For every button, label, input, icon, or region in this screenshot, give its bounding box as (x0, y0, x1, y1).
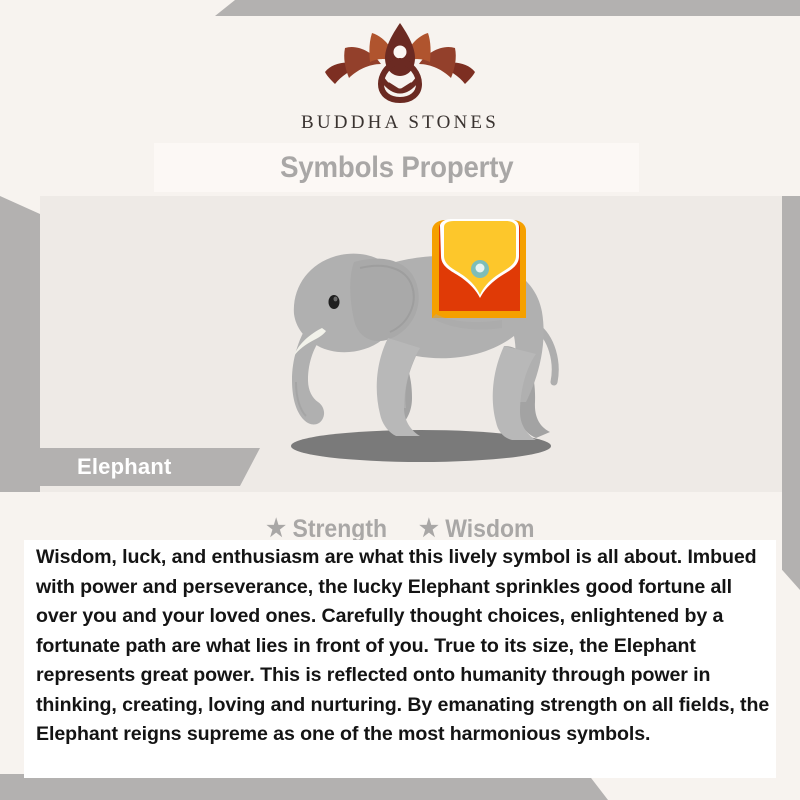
title-banner: Symbols Property (154, 143, 639, 192)
symbol-name-label: Elephant (77, 454, 172, 480)
infographic-page: BUDDHA STONES Symbols Property (0, 0, 800, 800)
lotus-meditation-figure-icon (315, 18, 485, 110)
elephant-illustration (236, 206, 596, 476)
description-panel: Wisdom, luck, and enthusiasm are what th… (24, 540, 776, 778)
elephant-saddle (432, 219, 526, 318)
elephant-eye (329, 295, 340, 309)
brand-header: BUDDHA STONES (0, 18, 800, 142)
star-icon: ★ (266, 517, 286, 541)
illustration-stage (40, 196, 782, 492)
symbol-name-banner: Elephant (40, 448, 260, 486)
star-icon: ★ (419, 517, 439, 541)
left-ribbon-decor (0, 196, 40, 492)
top-ribbon-decor (215, 0, 800, 16)
description-text: Wisdom, luck, and enthusiasm are what th… (24, 540, 776, 750)
page-title: Symbols Property (280, 151, 513, 185)
brand-name: BUDDHA STONES (301, 112, 499, 134)
right-ribbon-decor (782, 196, 800, 498)
